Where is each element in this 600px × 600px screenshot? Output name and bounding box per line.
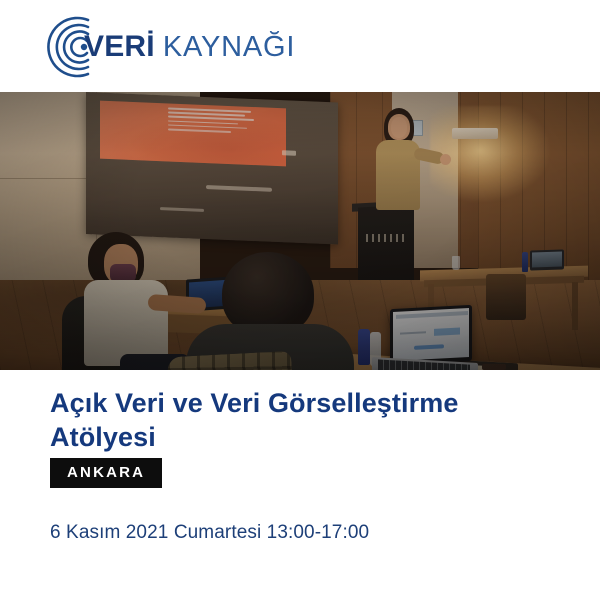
back-table-leg: [572, 282, 578, 330]
back-chair: [486, 274, 526, 320]
city-badge: ANKARA: [50, 458, 162, 488]
slide-nav-arrows: [282, 150, 296, 156]
presenter-body: [376, 140, 420, 210]
brand-wordmark: VERİ KAYNAĞI: [84, 32, 295, 62]
presenter-face: [391, 117, 407, 138]
presenter-hand: [440, 154, 451, 165]
event-poster: VERİ KAYNAĞI: [0, 0, 600, 600]
event-title: Açık Veri ve Veri Görselleştirme Atölyes…: [50, 386, 550, 454]
back-laptop: [530, 249, 564, 270]
brand-name-light: KAYNAĞI: [163, 33, 295, 62]
water-bottle-blue: [358, 329, 370, 365]
slide-caption: [206, 185, 272, 192]
poster-content: Açık Veri ve Veri Görselleştirme Atölyes…: [0, 370, 600, 600]
poster-header: VERİ KAYNAĞI: [0, 0, 600, 92]
slide-text-lines: [168, 107, 258, 136]
back-water-bottle: [522, 252, 528, 272]
projection-screen: [86, 92, 338, 245]
event-datetime: 6 Kasım 2021 Cumartesi 13:00-17:00: [50, 522, 369, 544]
laptop-content-block: [434, 327, 460, 335]
slide-footnote: [160, 207, 204, 212]
front-laptop-screen: [390, 305, 472, 365]
podium-hotel-logo: [366, 234, 408, 242]
workshop-photo: [0, 92, 600, 370]
photo-scene: [0, 92, 600, 370]
brand-logo[interactable]: VERİ KAYNAĞI: [42, 16, 295, 78]
brand-name-bold: VERİ: [84, 32, 155, 62]
presentation-slide: [100, 101, 286, 167]
back-drinking-glass: [452, 256, 460, 270]
wall-sconce-lamp: [452, 128, 498, 139]
